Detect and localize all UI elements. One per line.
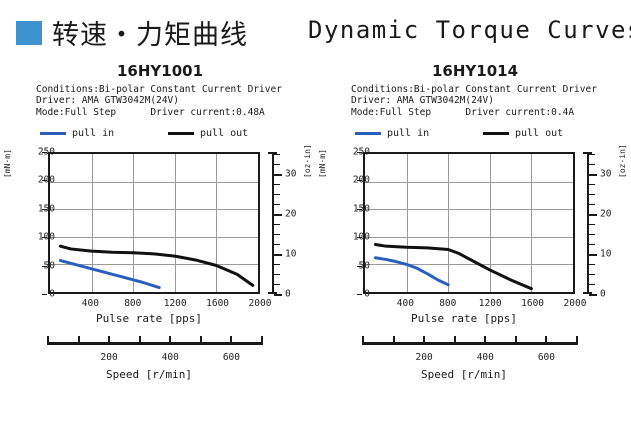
x-axis-tick-label: 400 [397,298,414,309]
x-axis-tick-label: 2000 [564,298,587,309]
x-axis-tick-label: 800 [124,298,141,309]
speed-scale-tick [200,336,202,345]
secondary-axis-tick [589,294,597,296]
secondary-axis-tick [274,244,280,246]
x-axis-tick-label: 1200 [479,298,502,309]
y-axis-tick-mark [42,294,47,295]
speed-scale-tick-label: 200 [416,352,433,363]
y-axis-tick-mark [357,237,362,238]
x-axis-label: Pulse rate [pps] [319,312,609,325]
panel-conditions: Conditions:Bi-polar Constant Current Dri… [351,84,631,118]
y-axis-tick-mark [42,266,47,267]
speed-scale-tick [362,336,364,345]
y-axis-tick-mark [357,152,362,153]
y-axis-tick-mark [357,209,362,210]
legend-item-pull-out-label: pull out [515,128,563,139]
legend-item-pull-in-swatch [40,132,66,135]
curve-pull-in [60,261,159,288]
x-axis-label: Pulse rate [pps] [4,312,294,325]
x-axis-tick-label: 400 [82,298,99,309]
speed-scale-tick [108,336,110,345]
secondary-axis-tick [274,284,280,286]
secondary-axis-tick [589,174,597,176]
secondary-axis-tick-label: 30 [285,168,296,179]
speed-scale-tick [393,336,395,345]
secondary-axis-tick-label: 0 [285,289,291,300]
secondary-axis-tick [589,234,595,236]
speed-scale-tick [423,336,425,345]
page-title-cn: 转速・力矩曲线 [52,13,248,52]
conditions-line: Conditions:Bi-polar Constant Current Dri… [351,84,631,95]
chart-area: [mN·m][oz·in]250200150100500302010040080… [319,148,631,308]
legend-item-pull-out: pull out [168,128,248,139]
secondary-axis-tick [274,154,280,156]
x-axis-tick-label: 1200 [164,298,187,309]
secondary-axis-tick [589,184,595,186]
secondary-axis-tick-label: 0 [600,289,606,300]
speed-scale-tick [576,336,578,345]
secondary-axis-tick [589,244,595,246]
curve-svg [365,154,573,292]
speed-scale-tick [139,336,141,345]
legend-item-pull-in-label: pull in [387,128,429,139]
panel-conditions: Conditions:Bi-polar Constant Current Dri… [36,84,316,118]
chart-area: [mN·m][oz·in]250200150100500302010040080… [4,148,316,308]
torque-curves-page: 转速・力矩曲线 Dynamic Torque Curves 16HY1001Co… [0,0,631,433]
speed-scale: 200400600Speed [r/min] [319,332,631,390]
speed-scale: 200400600Speed [r/min] [4,332,316,390]
secondary-axis-tick [274,174,282,176]
y-axis-tick-mark [357,294,362,295]
secondary-axis-tick [589,194,595,196]
speed-scale-tick-label: 200 [101,352,118,363]
panel-title: 16HY1001 [4,62,316,80]
speed-scale-tick [78,336,80,345]
secondary-axis-tick [274,234,280,236]
secondary-axis-tick [274,224,280,226]
secondary-axis-tick-label: 10 [600,248,611,259]
y-axis-left-label: [mN·m] [3,149,12,178]
speed-scale-label: Speed [r/min] [4,368,294,381]
y-axis-tick-mark [42,152,47,153]
speed-scale-tick-label: 600 [223,352,240,363]
chart-panel-16HY1014: 16HY1014Conditions:Bi-polar Constant Cur… [319,62,631,422]
secondary-axis-tick [589,154,595,156]
secondary-axis-tick [589,264,595,266]
y-axis-tick-label: 0 [49,289,55,300]
y-axis-left-label: [mN·m] [318,149,327,178]
secondary-axis-tick [589,284,595,286]
speed-scale-tick [169,336,171,345]
secondary-axis-tick-label: 10 [285,248,296,259]
page-title-en: Dynamic Torque Curves [308,16,631,44]
speed-scale-tick-label: 600 [538,352,555,363]
speed-scale-tick [515,336,517,345]
y-axis-tick-mark [42,209,47,210]
legend-item-pull-in: pull in [355,128,429,139]
secondary-axis-tick-label: 30 [600,168,611,179]
x-axis-tick-label: 1600 [206,298,229,309]
conditions-line: Conditions:Bi-polar Constant Current Dri… [36,84,316,95]
curve-pull-out [375,245,531,289]
secondary-axis-tick [274,194,280,196]
secondary-axis-tick [274,274,280,276]
secondary-axis-tick [589,224,595,226]
legend-item-pull-out-swatch [483,132,509,135]
y-axis-tick-mark [42,237,47,238]
mode-line: Mode:Full Step Driver current:0.48A [36,107,316,118]
secondary-axis-tick [274,264,280,266]
secondary-axis-tick [274,254,282,256]
speed-scale-tick [545,336,547,345]
y-axis-tick-mark [357,180,362,181]
secondary-axis-tick [589,214,597,216]
secondary-axis-tick [589,254,597,256]
speed-scale-tick [484,336,486,345]
secondary-axis-tick-label: 20 [600,208,611,219]
chart-legend: pull inpull out [355,128,625,142]
legend-item-pull-out: pull out [483,128,563,139]
driver-line: Driver: AMA GTW3042M(24V) [351,95,631,106]
curve-pull-in [375,258,448,285]
speed-scale-tick [261,336,263,345]
plot-box [363,152,575,294]
panel-title: 16HY1014 [319,62,631,80]
x-axis-tick-label: 800 [439,298,456,309]
secondary-axis-tick [589,274,595,276]
secondary-axis-tick-label: 20 [285,208,296,219]
speed-scale-tick-label: 400 [477,352,494,363]
y-axis-tick-mark [357,266,362,267]
curve-svg [50,154,258,292]
y-axis-right-label: [oz·in] [618,144,627,178]
y-axis-tick-mark [42,180,47,181]
legend-item-pull-out-label: pull out [200,128,248,139]
speed-scale-label: Speed [r/min] [319,368,609,381]
speed-scale-tick [230,336,232,345]
chart-legend: pull inpull out [40,128,310,142]
secondary-axis-tick [589,164,595,166]
speed-scale-tick-label: 400 [162,352,179,363]
page-header: 转速・力矩曲线 Dynamic Torque Curves [0,0,631,58]
legend-item-pull-in: pull in [40,128,114,139]
header-square-icon [16,21,42,45]
curve-pull-out [60,246,252,285]
y-axis-right-label: [oz·in] [303,144,312,178]
mode-line: Mode:Full Step Driver current:0.4A [351,107,631,118]
x-axis-tick-label: 2000 [249,298,272,309]
chart-panel-16HY1001: 16HY1001Conditions:Bi-polar Constant Cur… [4,62,316,422]
driver-line: Driver: AMA GTW3042M(24V) [36,95,316,106]
secondary-axis-tick [589,204,595,206]
plot-box [48,152,260,294]
secondary-axis-tick [274,214,282,216]
x-axis-tick-label: 1600 [521,298,544,309]
secondary-axis-tick [274,164,280,166]
secondary-axis-tick [274,184,280,186]
secondary-axis-tick [274,294,282,296]
secondary-axis-tick [274,204,280,206]
legend-item-pull-in-swatch [355,132,381,135]
speed-scale-tick [47,336,49,345]
speed-scale-tick [454,336,456,345]
legend-item-pull-out-swatch [168,132,194,135]
legend-item-pull-in-label: pull in [72,128,114,139]
y-axis-tick-label: 0 [364,289,370,300]
